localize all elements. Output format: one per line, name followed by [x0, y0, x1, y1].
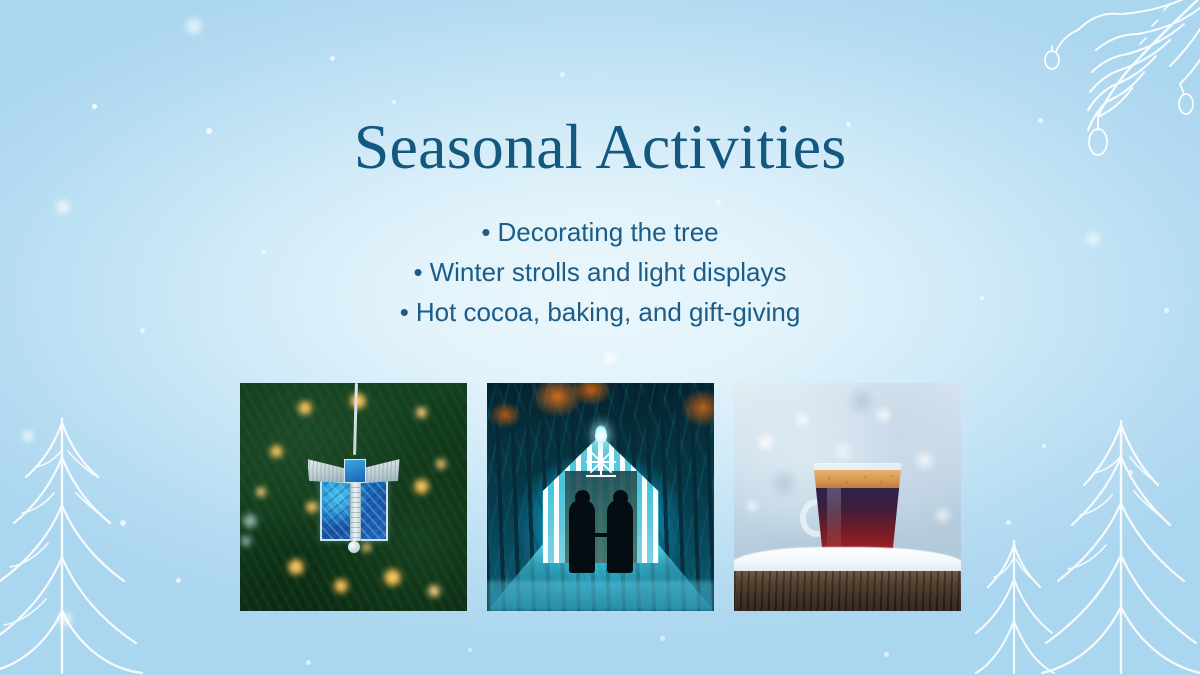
held-hands [593, 533, 609, 537]
bullet-list: •Decorating the tree •Winter strolls and… [0, 212, 1200, 332]
hot-cocoa-photo [734, 383, 961, 611]
glass-cup-body [812, 463, 904, 553]
gift-box-ornament [308, 449, 400, 545]
light-archway [543, 435, 659, 563]
archway-finial-light [595, 425, 607, 443]
list-item-label: Hot cocoa, baking, and gift-giving [416, 297, 800, 327]
snowflake-star-icon [586, 447, 616, 477]
slide-canvas: Seasonal Activities •Decorating the tree… [0, 0, 1200, 675]
photo-row [240, 383, 960, 611]
ornament-bow-knot [344, 459, 366, 483]
gift-ornament-photo [240, 383, 467, 611]
ornament-bow-right [362, 457, 400, 483]
ornament-bow-left [308, 457, 346, 483]
snow-ground [487, 581, 714, 611]
ornament-ribbon [350, 477, 361, 541]
person-silhouette [569, 499, 595, 573]
cocoa-liquid [813, 488, 903, 552]
winter-light-display-photo [487, 383, 714, 611]
person-silhouette [607, 499, 633, 573]
cocoa-foam [813, 470, 903, 490]
list-item: •Decorating the tree [0, 212, 1200, 252]
bullet-marker-icon: • [481, 217, 490, 247]
snow-on-rail [734, 547, 961, 573]
ornament-bead [348, 541, 360, 553]
wooden-rail [734, 571, 961, 611]
page-title: Seasonal Activities [0, 109, 1200, 185]
bullet-marker-icon: • [413, 257, 422, 287]
list-item-label: Decorating the tree [497, 217, 718, 247]
list-item-label: Winter strolls and light displays [430, 257, 787, 287]
list-item: •Winter strolls and light displays [0, 252, 1200, 292]
cocoa-cup [800, 463, 904, 555]
list-item: •Hot cocoa, baking, and gift-giving [0, 292, 1200, 332]
bullet-marker-icon: • [400, 297, 409, 327]
